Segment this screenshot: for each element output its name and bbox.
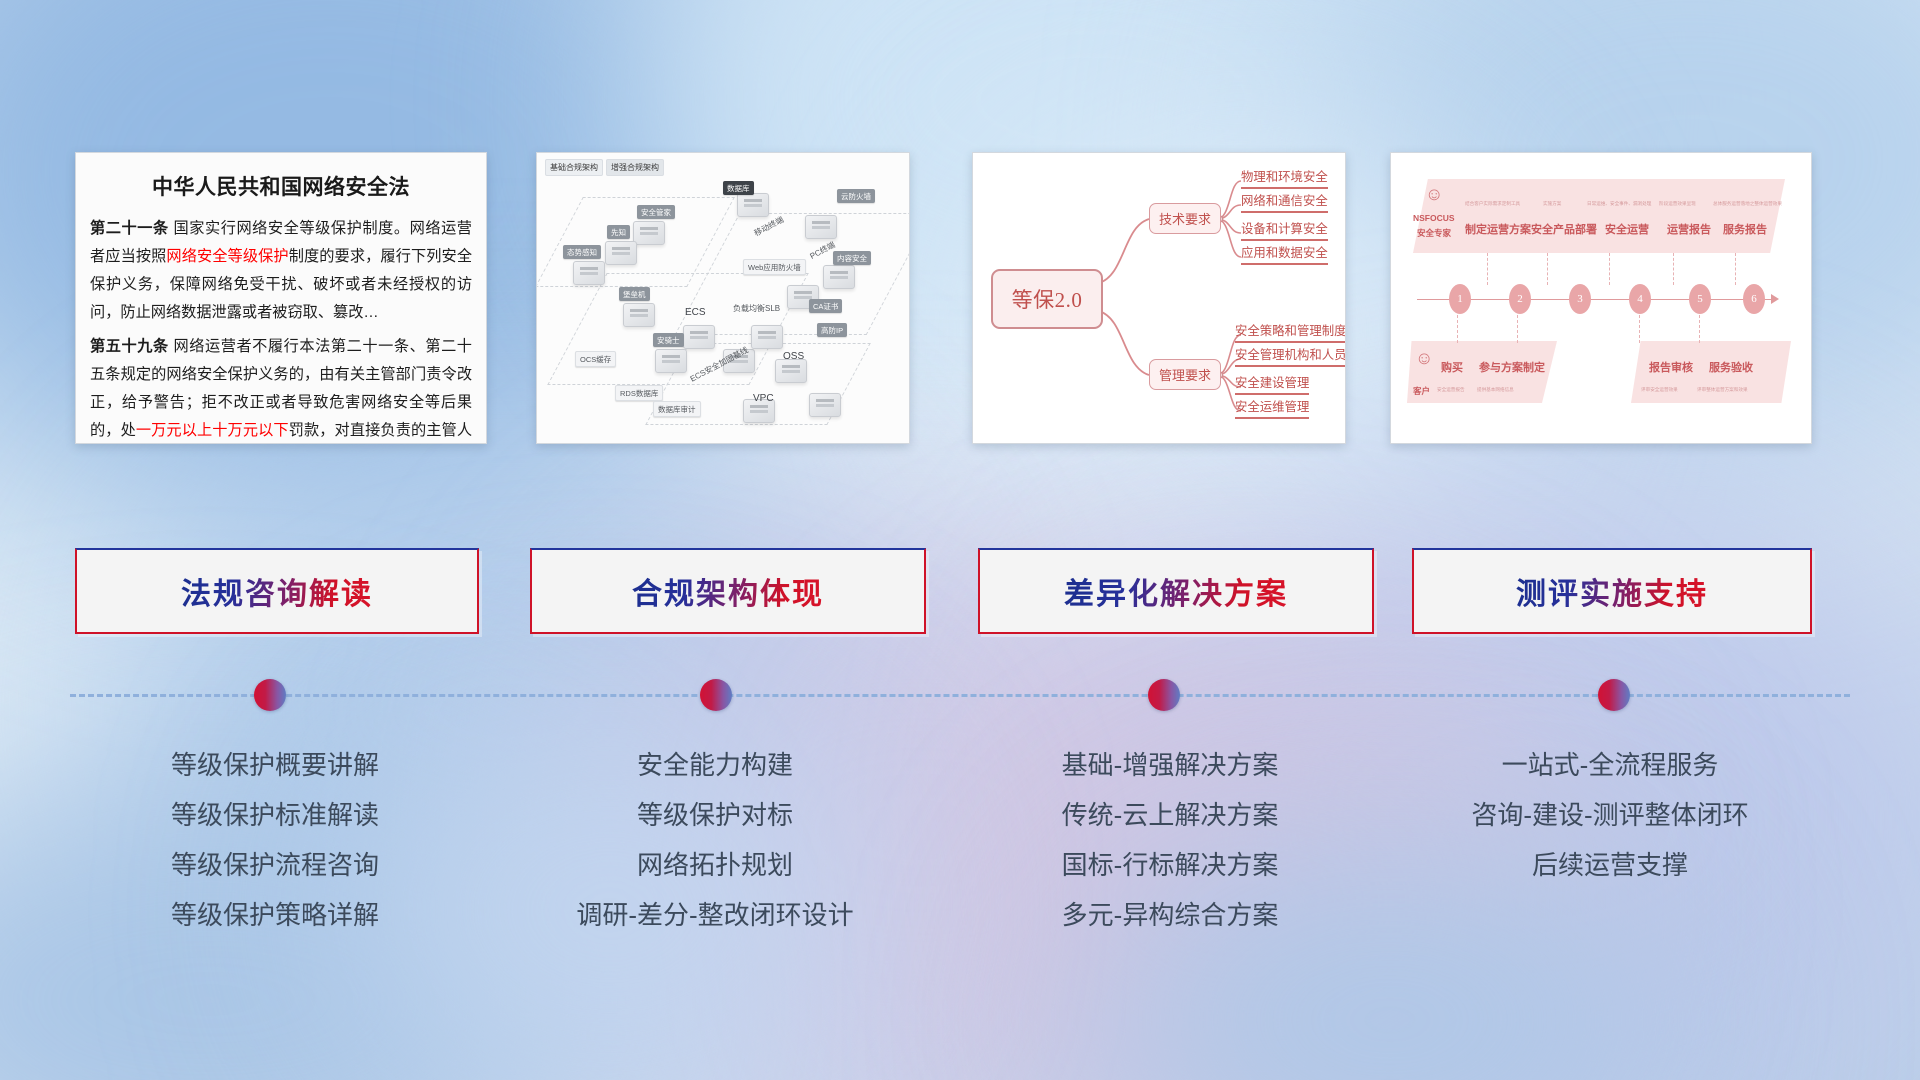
list-item: 等级保护概要讲解 xyxy=(60,740,490,790)
title-box-differentiated-solution[interactable]: 差异化解决方案 xyxy=(978,548,1374,634)
title-box-compliance-architecture[interactable]: 合规架构体现 xyxy=(530,548,926,634)
list-item: 一站式-全流程服务 xyxy=(1400,740,1820,790)
title-label: 测评实施支持 xyxy=(1516,569,1708,613)
timeline-node-4[interactable] xyxy=(1598,679,1630,711)
list-item: 国标-行标解决方案 xyxy=(950,840,1390,890)
list-item: 等级保护策略详解 xyxy=(60,890,490,940)
list-item: 传统-云上解决方案 xyxy=(950,790,1390,840)
list-item: 等级保护标准解读 xyxy=(60,790,490,840)
list-item: 调研-差分-整改闭环设计 xyxy=(500,890,930,940)
timeline-node-2[interactable] xyxy=(700,679,732,711)
list-item: 等级保护流程咨询 xyxy=(60,840,490,890)
list-item: 网络拓扑规划 xyxy=(500,840,930,890)
list-item: 等级保护对标 xyxy=(500,790,930,840)
list-item: 安全能力构建 xyxy=(500,740,930,790)
list-item: 后续运营支撑 xyxy=(1400,840,1820,890)
title-label: 差异化解决方案 xyxy=(1064,569,1288,613)
list-item: 基础-增强解决方案 xyxy=(950,740,1390,790)
timeline-node-3[interactable] xyxy=(1148,679,1180,711)
list-item: 多元-异构综合方案 xyxy=(950,890,1390,940)
detail-column-assessment: 一站式-全流程服务 咨询-建设-测评整体闭环 后续运营支撑 xyxy=(1400,740,1820,890)
detail-column-regulation: 等级保护概要讲解 等级保护标准解读 等级保护流程咨询 等级保护策略详解 xyxy=(60,740,490,940)
title-box-regulation-consulting[interactable]: 法规咨询解读 xyxy=(75,548,479,634)
timeline-node-1[interactable] xyxy=(254,679,286,711)
title-label: 法规咨询解读 xyxy=(181,569,373,613)
list-item: 咨询-建设-测评整体闭环 xyxy=(1400,790,1820,840)
detail-column-solution: 基础-增强解决方案 传统-云上解决方案 国标-行标解决方案 多元-异构综合方案 xyxy=(950,740,1390,940)
detail-column-architecture: 安全能力构建 等级保护对标 网络拓扑规划 调研-差分-整改闭环设计 xyxy=(500,740,930,940)
title-label: 合规架构体现 xyxy=(632,569,824,613)
title-box-assessment-support[interactable]: 测评实施支持 xyxy=(1412,548,1812,634)
dashed-timeline xyxy=(70,694,1850,699)
